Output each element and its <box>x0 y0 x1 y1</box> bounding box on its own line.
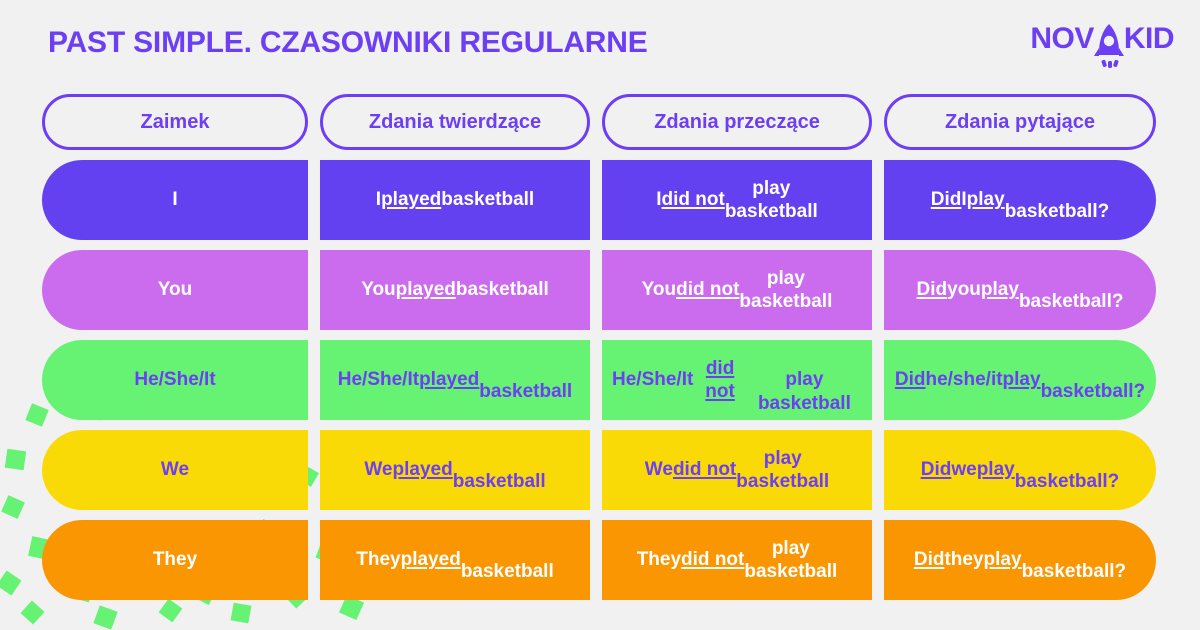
column-header-pronoun[interactable]: Zaimek <box>42 94 308 150</box>
table-header-row: Zaimek Zdania twierdzące Zdania przecząc… <box>42 94 1158 150</box>
cell-pronoun-2[interactable]: He/She/It <box>42 340 308 420</box>
cell-negative-0[interactable]: I did not playbasketball <box>602 160 872 240</box>
column-header-negative[interactable]: Zdania przeczące <box>602 94 872 150</box>
confetti-square <box>1 495 25 519</box>
cell-negative-2[interactable]: He/She/It did notplay basketball <box>602 340 872 420</box>
cell-pronoun-1[interactable]: You <box>42 250 308 330</box>
confetti-square <box>20 600 44 624</box>
table-row: WeWe playedbasketballWe did not playbask… <box>42 430 1158 510</box>
header: PAST SIMPLE. CZASOWNIKI REGULARNE NOV KI… <box>0 0 1200 88</box>
cell-interrogative-3[interactable]: Did we playbasketball? <box>884 430 1156 510</box>
cell-negative-1[interactable]: You did not playbasketball <box>602 250 872 330</box>
cell-affirmative-2[interactable]: He/She/It playedbasketball <box>320 340 590 420</box>
cell-affirmative-3[interactable]: We playedbasketball <box>320 430 590 510</box>
cell-negative-4[interactable]: They did not playbasketball <box>602 520 872 600</box>
cell-interrogative-4[interactable]: Did they playbasketball? <box>884 520 1156 600</box>
cell-affirmative-1[interactable]: You played basketball <box>320 250 590 330</box>
conjugation-table: Zaimek Zdania twierdzące Zdania przecząc… <box>42 94 1158 610</box>
rocket-a-icon <box>1094 22 1124 70</box>
brand-logo: NOV KID <box>1030 22 1174 70</box>
table-row: He/She/ItHe/She/It playedbasketballHe/Sh… <box>42 340 1158 420</box>
confetti-square <box>0 571 21 596</box>
cell-pronoun-4[interactable]: They <box>42 520 308 600</box>
cell-pronoun-3[interactable]: We <box>42 430 308 510</box>
cell-pronoun-0[interactable]: I <box>42 160 308 240</box>
cell-negative-3[interactable]: We did not playbasketball <box>602 430 872 510</box>
logo-text-nov: NOV <box>1030 22 1094 56</box>
page-title: PAST SIMPLE. CZASOWNIKI REGULARNE <box>48 26 648 60</box>
cell-affirmative-4[interactable]: They playedbasketball <box>320 520 590 600</box>
cell-interrogative-1[interactable]: Did you playbasketball? <box>884 250 1156 330</box>
table-row: II played basketballI did not playbasket… <box>42 160 1158 240</box>
column-header-affirmative[interactable]: Zdania twierdzące <box>320 94 590 150</box>
column-header-interrogative[interactable]: Zdania pytające <box>884 94 1156 150</box>
table-row: YouYou played basketballYou did not play… <box>42 250 1158 330</box>
table-row: TheyThey playedbasketballThey did not pl… <box>42 520 1158 600</box>
cell-affirmative-0[interactable]: I played basketball <box>320 160 590 240</box>
cell-interrogative-0[interactable]: Did I playbasketball? <box>884 160 1156 240</box>
confetti-square <box>5 449 26 470</box>
cell-interrogative-2[interactable]: Did he/she/it playbasketball? <box>884 340 1156 420</box>
logo-text-kid: KID <box>1124 22 1174 56</box>
